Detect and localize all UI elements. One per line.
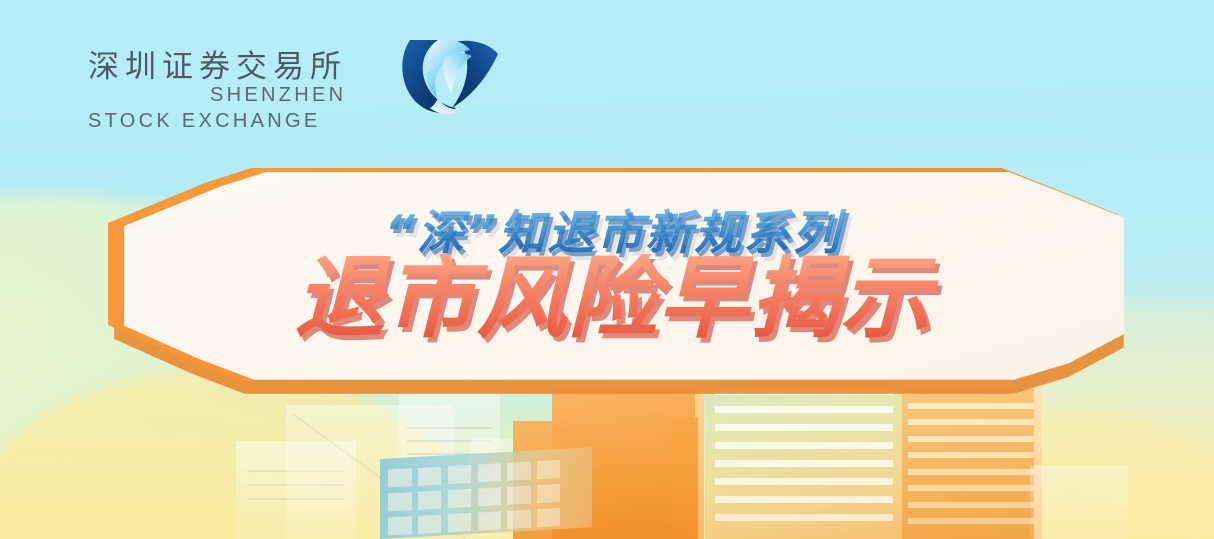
building-main-tower-right-face — [902, 389, 1042, 539]
title-plaque: “深”知退市新规系列 退市风险早揭示 — [108, 168, 1118, 380]
logo-name-en-line2: STOCK EXCHANGE — [88, 110, 321, 133]
building-orange-right-edge — [672, 417, 698, 539]
szse-emblem-icon — [394, 28, 504, 120]
szse-logo: 深圳证券交易所 SHENZHEN STOCK EXCHANGE — [84, 36, 514, 136]
building-pale-right — [1030, 465, 1128, 539]
building-main-tower-left-face — [705, 375, 903, 539]
logo-name-cn: 深圳证券交易所 — [88, 41, 347, 86]
poster-canvas: 深圳证券交易所 SHENZHEN STOCK EXCHANGE — [0, 0, 1214, 539]
logo-name-en-line1: SHENZHEN — [210, 84, 346, 107]
banner-title: 退市风险早揭示 — [108, 254, 1118, 344]
building-blue-grid — [380, 447, 592, 539]
